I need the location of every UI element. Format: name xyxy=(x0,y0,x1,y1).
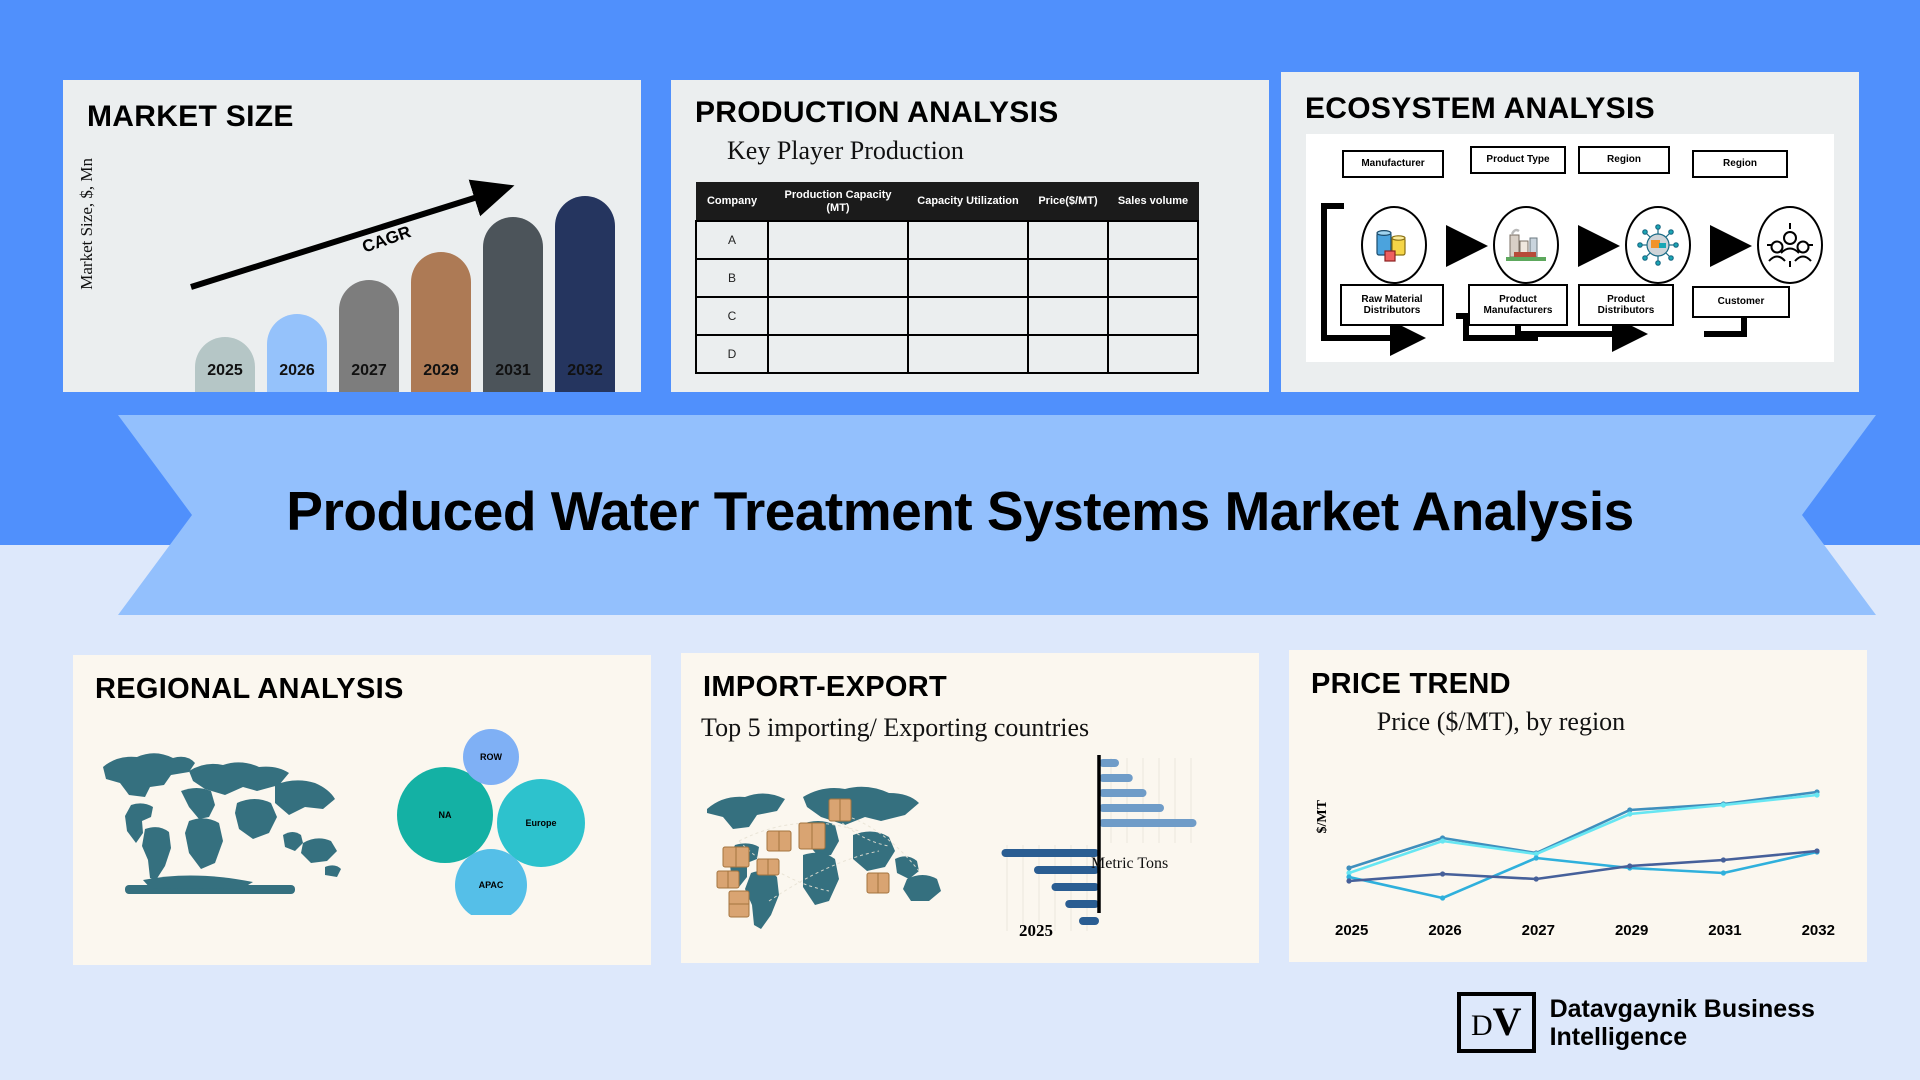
panel-title-import-export: IMPORT-EXPORT xyxy=(703,671,947,704)
price-point xyxy=(1440,895,1445,900)
page-title: Produced Water Treatment Systems Market … xyxy=(286,479,1633,543)
eco-top-label-3: Region xyxy=(1692,150,1788,178)
panel-title-price-trend: PRICE TREND xyxy=(1311,668,1511,701)
price-trend-line-chart xyxy=(1335,768,1835,918)
factory-icon xyxy=(1493,206,1559,284)
table-row[interactable]: D xyxy=(696,335,1198,373)
table-row[interactable]: A xyxy=(696,221,1198,259)
import-export-year-label: 2025 xyxy=(1019,921,1053,941)
price-trend-subtitle: Price ($/MT), by region xyxy=(1351,706,1651,739)
logo-letter-v: V xyxy=(1493,998,1522,1045)
main-title-banner: Produced Water Treatment Systems Market … xyxy=(44,415,1876,615)
market-size-bar-2025: 2025 xyxy=(195,337,255,392)
import-bar-4 xyxy=(1099,819,1197,827)
price-point xyxy=(1534,876,1539,881)
price-trend-x-axis: 202520262027202920312032 xyxy=(1335,922,1835,939)
price-line-4 xyxy=(1349,851,1817,881)
logo-letter-d: D xyxy=(1471,1009,1493,1043)
export-bar-4 xyxy=(1079,917,1099,925)
table-col-header: Sales volume xyxy=(1108,183,1198,222)
table-cell-company[interactable]: B xyxy=(696,259,768,297)
market-size-bar-label: 2032 xyxy=(567,362,603,392)
table-cell[interactable] xyxy=(908,335,1028,373)
table-cell[interactable] xyxy=(1108,259,1198,297)
panel-market-size: MARKET SIZE Market Size, $, Mn CAGR 2025… xyxy=(63,80,641,392)
eco-bottom-label-2: Product Distributors xyxy=(1578,284,1674,326)
panel-import-export: IMPORT-EXPORT Top 5 importing/ Exporting… xyxy=(681,653,1259,963)
price-x-tick: 2032 xyxy=(1802,922,1835,939)
market-size-bar-label: 2026 xyxy=(279,362,315,392)
price-point xyxy=(1721,802,1726,807)
market-size-bar-2027: 2027 xyxy=(339,280,399,392)
eco-top-label-0: Manufacturer xyxy=(1342,150,1444,178)
price-x-tick: 2025 xyxy=(1335,922,1368,939)
panel-title-ecosystem: ECOSYSTEM ANALYSIS xyxy=(1305,92,1655,126)
price-point xyxy=(1721,870,1726,875)
price-x-tick: 2029 xyxy=(1615,922,1648,939)
eco-bottom-label-0: Raw Material Distributors xyxy=(1340,284,1444,326)
export-bar-1 xyxy=(1034,866,1099,874)
table-cell[interactable] xyxy=(1108,297,1198,335)
price-point xyxy=(1440,871,1445,876)
svg-text:ROW: ROW xyxy=(480,752,503,762)
import-bar-1 xyxy=(1099,774,1133,782)
import-export-subtitle: Top 5 importing/ Exporting countries xyxy=(701,713,1089,743)
table-cell[interactable] xyxy=(1028,259,1108,297)
panel-title-regional: REGIONAL ANALYSIS xyxy=(95,673,404,706)
market-size-bar-2029: 2029 xyxy=(411,252,471,392)
customers-icon xyxy=(1757,206,1823,284)
table-cell[interactable] xyxy=(768,221,908,259)
distribution-network-icon xyxy=(1625,206,1691,284)
region-bubble-europe: Europe xyxy=(497,779,585,867)
market-size-bar-label: 2029 xyxy=(423,362,459,392)
svg-text:Europe: Europe xyxy=(525,818,556,828)
table-cell-company[interactable]: C xyxy=(696,297,768,335)
price-point xyxy=(1346,878,1351,883)
panel-title-production: PRODUCTION ANALYSIS xyxy=(695,96,1059,130)
table-header-row: CompanyProduction Capacity (MT)Capacity … xyxy=(696,183,1198,222)
market-size-y-axis-label: Market Size, $, Mn xyxy=(77,158,97,290)
price-point xyxy=(1440,838,1445,843)
eco-bottom-label-3: Customer xyxy=(1692,286,1790,318)
barrels-icon xyxy=(1361,206,1427,284)
export-bar-3 xyxy=(1065,900,1099,908)
price-point xyxy=(1346,865,1351,870)
table-cell[interactable] xyxy=(1028,297,1108,335)
price-point xyxy=(1721,857,1726,862)
eco-top-label-2: Region xyxy=(1578,146,1670,174)
table-cell[interactable] xyxy=(1028,221,1108,259)
table-cell[interactable] xyxy=(908,259,1028,297)
market-size-bar-2032: 2032 xyxy=(555,196,615,392)
svg-text:APAC: APAC xyxy=(479,880,504,890)
trade-routes-map-icon xyxy=(699,761,959,941)
table-cell-company[interactable]: A xyxy=(696,221,768,259)
region-bubble-chart: NAEuropeAPACROW xyxy=(373,715,623,915)
market-size-bars: 202520262027202920312032 xyxy=(195,172,625,392)
market-size-bar-2026: 2026 xyxy=(267,314,327,392)
table-col-header: Price($/MT) xyxy=(1028,183,1108,222)
table-col-header: Company xyxy=(696,183,768,222)
logo-line-1: Datavgaynik Business xyxy=(1550,995,1815,1023)
import-export-unit-label: Metric Tons xyxy=(1091,855,1168,873)
panel-regional-analysis: REGIONAL ANALYSIS NAEuropeAPACROW xyxy=(73,655,651,965)
brand-logo: D V Datavgaynik Business Intelligence xyxy=(1457,992,1815,1053)
panel-price-trend: PRICE TREND Price ($/MT), by region $/MT… xyxy=(1289,650,1867,962)
market-size-bar-2031: 2031 xyxy=(483,217,543,392)
eco-bottom-label-1: Product Manufacturers xyxy=(1468,284,1568,326)
table-cell[interactable] xyxy=(1108,335,1198,373)
table-row[interactable]: B xyxy=(696,259,1198,297)
region-bubble-row: ROW xyxy=(463,729,519,785)
market-size-bar-label: 2027 xyxy=(351,362,387,392)
export-bar-0 xyxy=(1002,849,1100,857)
eco-top-label-1: Product Type xyxy=(1470,146,1566,174)
import-bar-2 xyxy=(1099,789,1147,797)
price-point xyxy=(1814,848,1819,853)
panel-production-analysis: PRODUCTION ANALYSIS Key Player Productio… xyxy=(671,80,1269,392)
price-x-tick: 2027 xyxy=(1522,922,1555,939)
market-size-bar-label: 2031 xyxy=(495,362,531,392)
logo-mark-dv: D V xyxy=(1457,992,1536,1053)
price-point xyxy=(1627,811,1632,816)
panel-ecosystem-analysis: ECOSYSTEM ANALYSIS Manufacturer Product … xyxy=(1281,72,1859,392)
logo-company-name: Datavgaynik Business Intelligence xyxy=(1550,995,1815,1051)
table-row[interactable]: C xyxy=(696,297,1198,335)
world-map-icon xyxy=(85,725,375,905)
table-cell[interactable] xyxy=(908,221,1028,259)
table-cell[interactable] xyxy=(768,335,908,373)
export-bar-2 xyxy=(1052,883,1100,891)
table-cell[interactable] xyxy=(908,297,1028,335)
ecosystem-diagram: Manufacturer Product Type Region Region xyxy=(1306,134,1834,362)
table-cell[interactable] xyxy=(768,297,908,335)
svg-text:NA: NA xyxy=(439,810,452,820)
price-point xyxy=(1627,863,1632,868)
price-point xyxy=(1534,855,1539,860)
table-body: ABCD xyxy=(696,221,1198,373)
import-bar-3 xyxy=(1099,804,1164,812)
key-player-production-table: CompanyProduction Capacity (MT)Capacity … xyxy=(695,182,1199,374)
import-bar-0 xyxy=(1099,759,1119,767)
price-x-tick: 2026 xyxy=(1428,922,1461,939)
price-line-2 xyxy=(1349,795,1817,873)
table-cell[interactable] xyxy=(1108,221,1198,259)
price-point xyxy=(1814,792,1819,797)
production-subtitle: Key Player Production xyxy=(727,136,964,166)
table-col-header: Capacity Utilization xyxy=(908,183,1028,222)
table-cell[interactable] xyxy=(1028,335,1108,373)
price-trend-y-axis-label: $/MT xyxy=(1315,800,1331,833)
logo-line-2: Intelligence xyxy=(1550,1023,1815,1051)
import-export-tornado-chart xyxy=(981,753,1211,938)
table-col-header: Production Capacity (MT) xyxy=(768,183,908,222)
price-x-tick: 2031 xyxy=(1708,922,1741,939)
market-size-bar-label: 2025 xyxy=(207,362,243,392)
table-cell-company[interactable]: D xyxy=(696,335,768,373)
table-cell[interactable] xyxy=(768,259,908,297)
panel-title-market-size: MARKET SIZE xyxy=(87,100,294,134)
